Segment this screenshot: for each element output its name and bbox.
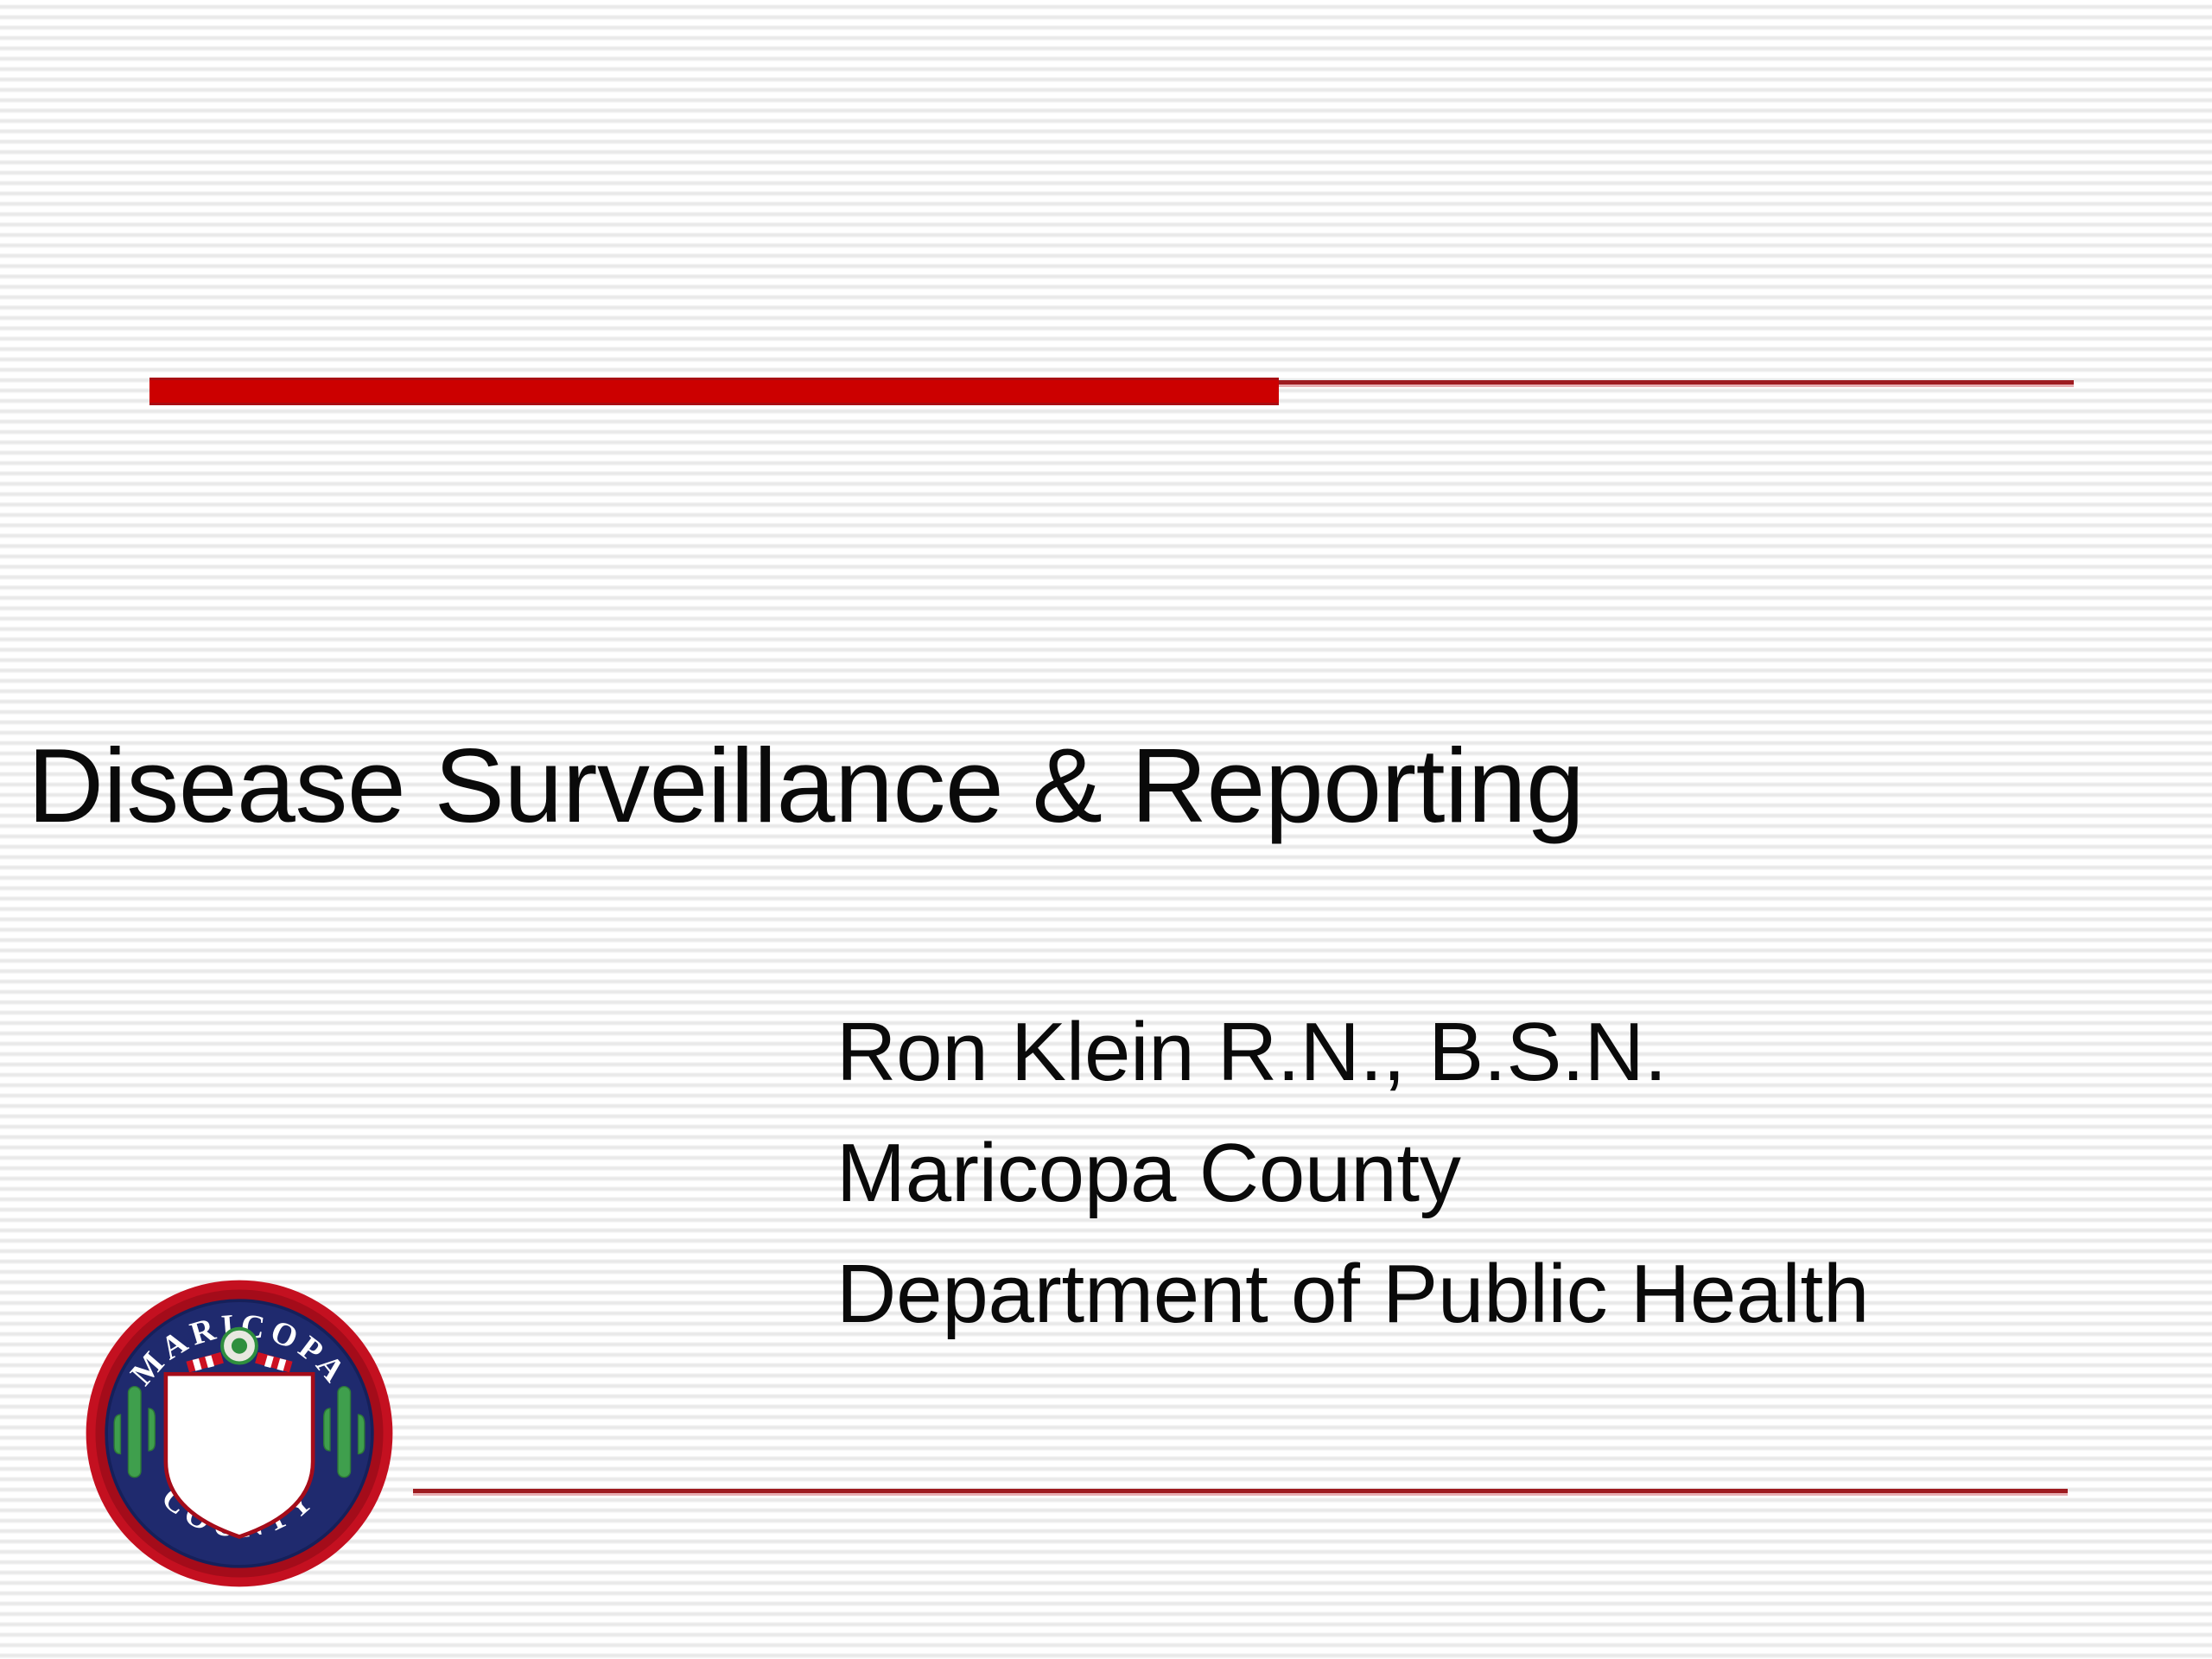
- slide-title: Disease Surveillance & Reporting: [28, 733, 2101, 838]
- maricopa-county-seal-icon: MARICOPA COUNTY: [83, 1277, 396, 1590]
- bottom-decorative-rule: [413, 1489, 2068, 1493]
- top-rule-thick-bar: [149, 378, 1279, 405]
- subtitle-line-department: Department of Public Health: [836, 1234, 2184, 1355]
- slide-subtitle: Ron Klein R.N., B.S.N. Maricopa County D…: [836, 992, 2184, 1355]
- top-decorative-rule: [149, 370, 2074, 410]
- subtitle-line-organization: Maricopa County: [836, 1113, 2184, 1234]
- subtitle-line-presenter: Ron Klein R.N., B.S.N.: [836, 992, 2184, 1113]
- presentation-slide: Disease Surveillance & Reporting Ron Kle…: [0, 0, 2212, 1659]
